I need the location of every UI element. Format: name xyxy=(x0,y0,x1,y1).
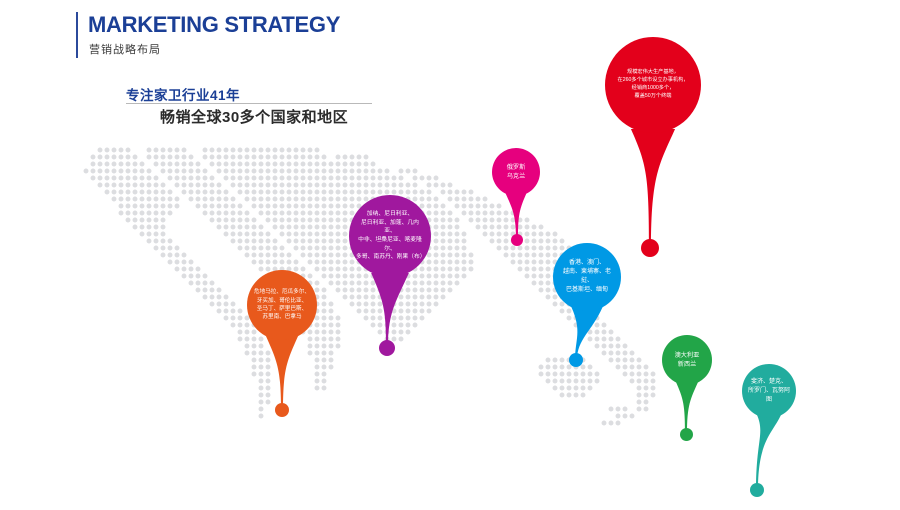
marker-label-southeast-asia: 香港、澳门、 越南、柬埔寨、老挝、 巴基斯坦、缅甸 xyxy=(558,259,616,295)
marker-bubble-russia-ukraine[interactable]: 俄罗斯 乌克兰 xyxy=(492,148,540,196)
world-dot-map xyxy=(0,0,900,510)
marker-bubble-china-production[interactable]: 规模宏伟大生产基地， 在260多个城市设立办事机构， 经销商1000多个， 覆盖… xyxy=(605,37,701,133)
marker-label-russia-ukraine: 俄罗斯 乌克兰 xyxy=(507,163,526,182)
marker-bubble-latin-america[interactable]: 危地马拉、厄瓜多尔、 牙买加、哥伦比亚、 圣马丁、萨里巴斯、 苏里南、巴拿马 xyxy=(247,270,317,340)
header-accent-bar xyxy=(76,12,78,58)
page-title-en: MARKETING STRATEGY xyxy=(88,14,340,36)
marker-label-pacific-islands: 斐济、楚克、 所罗门、瓦努阿图 xyxy=(746,378,792,405)
subtitle-line-1: 专注家卫行业41年 xyxy=(126,84,240,104)
marker-bubble-africa[interactable]: 加纳、尼日利亚、 尼日利亚、加蓬、几内亚、 中非、坦桑尼亚、喀麦隆尔、 多哥、南… xyxy=(349,195,431,277)
marker-bubble-southeast-asia[interactable]: 香港、澳门、 越南、柬埔寨、老挝、 巴基斯坦、缅甸 xyxy=(553,243,621,311)
marker-bubble-oceania[interactable]: 澳大利亚 新西兰 xyxy=(662,335,712,385)
subtitle-divider xyxy=(126,103,372,104)
marker-label-africa: 加纳、尼日利亚、 尼日利亚、加蓬、几内亚、 中非、坦桑尼亚、喀麦隆尔、 多哥、南… xyxy=(356,210,424,262)
slide-canvas: MARKETING STRATEGY 营销战略布局 专注家卫行业41年 畅销全球… xyxy=(0,0,900,510)
marker-label-oceania: 澳大利亚 新西兰 xyxy=(675,351,700,370)
marker-label-latin-america: 危地马拉、厄瓜多尔、 牙买加、哥伦比亚、 圣马丁、萨里巴斯、 苏里南、巴拿马 xyxy=(254,288,310,322)
marker-bubble-pacific-islands[interactable]: 斐济、楚克、 所罗门、瓦努阿图 xyxy=(742,364,796,418)
page-title-cn: 营销战略布局 xyxy=(89,41,161,57)
marker-label-china-production: 规模宏伟大生产基地， 在260多个城市设立办事机构， 经销商1000多个， 覆盖… xyxy=(618,69,689,100)
subtitle-line-2: 畅销全球30多个国家和地区 xyxy=(160,106,348,127)
